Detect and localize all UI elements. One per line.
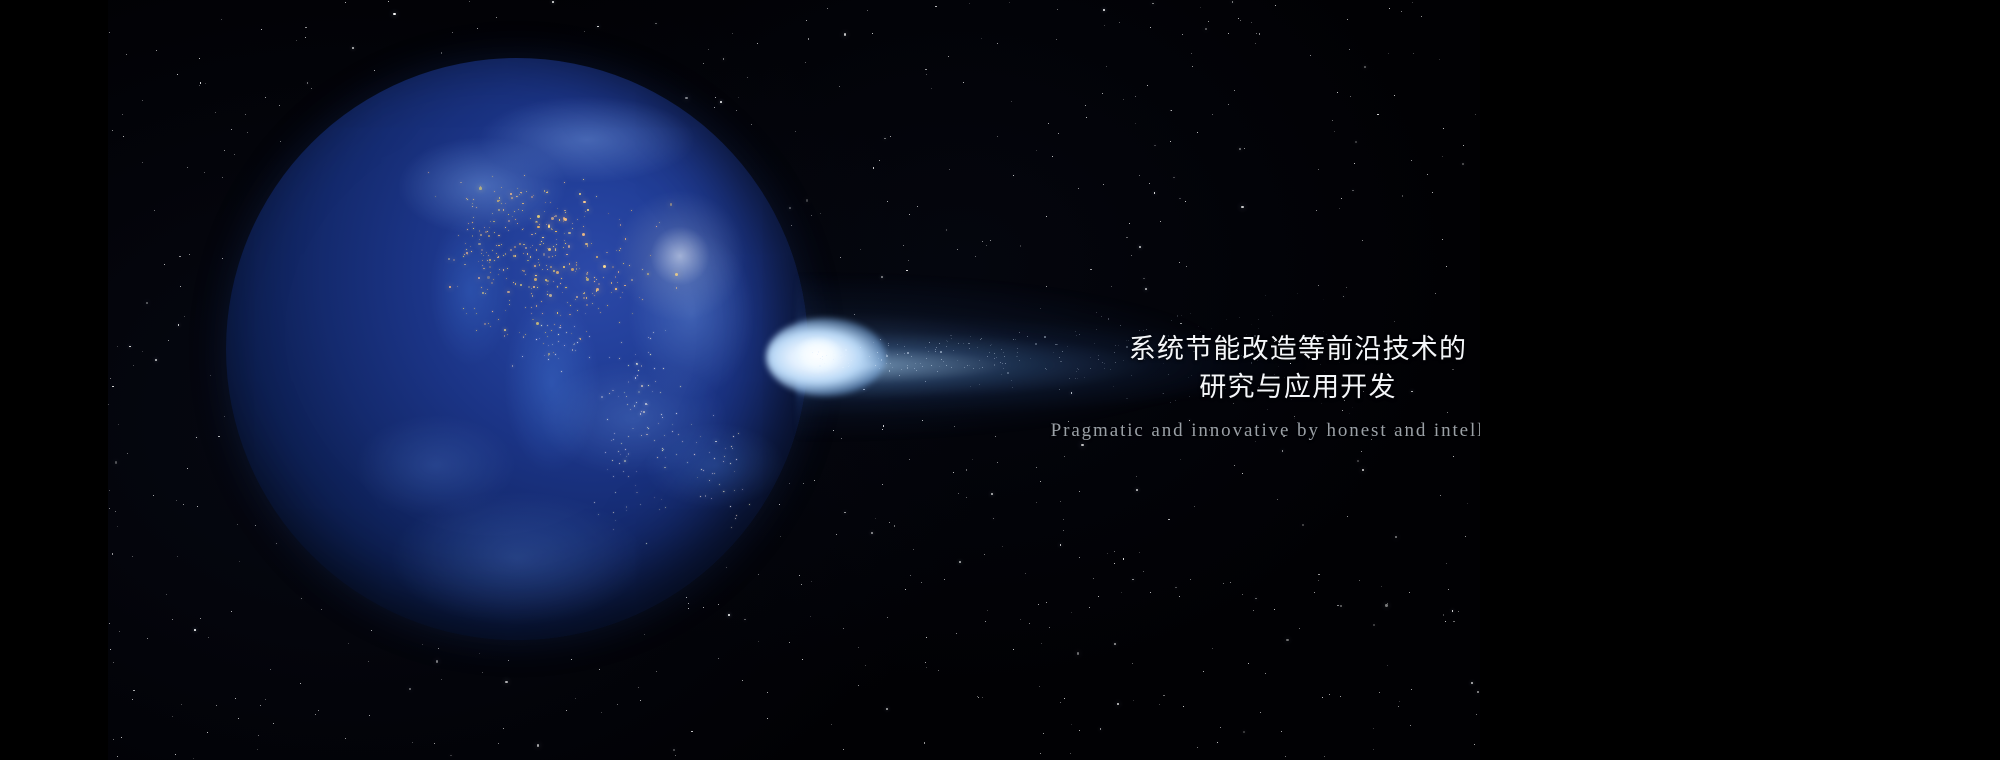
star	[981, 38, 982, 39]
star	[1329, 694, 1330, 695]
star	[584, 31, 585, 32]
star	[1401, 11, 1402, 12]
star	[1385, 604, 1387, 606]
star	[345, 738, 346, 739]
star	[1286, 639, 1288, 641]
star	[1049, 627, 1050, 628]
star	[1114, 643, 1116, 645]
star	[1123, 99, 1124, 100]
star	[984, 554, 985, 555]
star	[1255, 598, 1257, 600]
star	[1046, 286, 1047, 287]
star	[164, 264, 165, 265]
star	[296, 40, 297, 41]
star	[1251, 22, 1252, 23]
star	[808, 38, 809, 39]
star	[1395, 536, 1397, 538]
star	[109, 32, 110, 33]
star	[176, 500, 177, 501]
star	[154, 210, 155, 211]
star	[1160, 221, 1161, 222]
star	[1060, 702, 1061, 703]
star	[732, 33, 733, 34]
star	[854, 314, 855, 315]
star	[146, 302, 148, 304]
star	[1285, 756, 1286, 757]
star	[1070, 753, 1071, 754]
star	[1379, 692, 1380, 693]
star	[1025, 573, 1026, 574]
star	[121, 737, 122, 738]
star	[469, 1, 470, 2]
star	[257, 749, 258, 750]
star	[986, 245, 987, 246]
star	[1197, 132, 1198, 133]
star	[1040, 753, 1041, 754]
star	[175, 754, 176, 755]
star	[1133, 700, 1134, 701]
star	[155, 359, 157, 361]
star	[184, 316, 185, 317]
star	[1277, 499, 1278, 500]
star	[1355, 141, 1357, 143]
star	[109, 490, 110, 491]
star	[113, 739, 114, 740]
star	[1412, 2, 1413, 3]
star	[1435, 293, 1436, 294]
star	[133, 690, 134, 691]
star	[1230, 582, 1231, 583]
star	[1111, 286, 1112, 287]
star	[1063, 530, 1064, 531]
star	[181, 704, 182, 705]
star	[836, 534, 837, 535]
star	[1322, 697, 1323, 698]
star	[1310, 55, 1311, 56]
star	[1340, 605, 1342, 607]
star	[1173, 177, 1175, 179]
star	[183, 504, 184, 505]
star	[993, 518, 995, 520]
star	[109, 508, 110, 509]
star	[112, 553, 113, 554]
star	[1467, 503, 1468, 504]
star	[1058, 133, 1059, 134]
star	[1446, 266, 1447, 267]
star	[215, 112, 216, 113]
star	[1038, 604, 1039, 605]
star	[127, 453, 128, 454]
star	[1389, 8, 1390, 9]
star	[1168, 519, 1169, 520]
star	[393, 13, 395, 15]
star	[1354, 163, 1355, 164]
star	[926, 667, 927, 668]
star	[1136, 489, 1138, 491]
star	[1465, 536, 1466, 537]
star	[172, 716, 173, 717]
star	[1104, 25, 1105, 26]
star	[1445, 621, 1446, 622]
star	[110, 649, 111, 650]
star	[216, 705, 217, 706]
star	[921, 582, 922, 583]
star	[922, 420, 923, 421]
star	[863, 389, 865, 391]
star	[147, 638, 148, 639]
star	[498, 743, 499, 744]
star	[833, 430, 834, 431]
star	[1208, 21, 1209, 22]
star	[905, 589, 906, 590]
star	[840, 257, 841, 258]
star	[222, 177, 223, 178]
star	[1036, 467, 1037, 468]
star	[982, 241, 983, 242]
star	[883, 425, 884, 426]
star	[1152, 3, 1154, 5]
star	[978, 697, 979, 698]
star	[1013, 649, 1014, 650]
star	[1114, 563, 1115, 564]
star	[938, 670, 939, 671]
star	[1149, 183, 1150, 184]
star	[1197, 747, 1198, 748]
star	[1362, 469, 1364, 471]
star	[224, 416, 225, 417]
star	[897, 344, 898, 345]
star	[1036, 150, 1037, 151]
star	[218, 436, 219, 437]
star	[1314, 592, 1315, 593]
star	[222, 258, 223, 259]
star	[1182, 34, 1183, 35]
star	[1194, 506, 1195, 507]
star	[882, 484, 883, 485]
star	[1170, 141, 1171, 142]
star	[1132, 579, 1134, 581]
star	[1098, 596, 1099, 597]
star	[844, 512, 846, 514]
star	[177, 556, 178, 557]
star	[1040, 308, 1041, 309]
star	[953, 472, 954, 473]
star	[132, 699, 133, 700]
star	[1411, 160, 1412, 161]
star	[1260, 712, 1261, 713]
star	[966, 497, 967, 498]
star	[1078, 188, 1079, 189]
star	[1180, 323, 1181, 324]
star	[972, 459, 973, 460]
star	[1052, 156, 1053, 157]
star	[117, 346, 118, 347]
star	[1394, 321, 1395, 322]
star	[691, 731, 692, 732]
star	[1123, 558, 1124, 559]
star	[1239, 148, 1241, 150]
star	[1011, 101, 1012, 102]
star	[496, 17, 497, 18]
star	[153, 495, 154, 496]
star	[1117, 703, 1119, 705]
star	[352, 47, 354, 49]
star	[908, 260, 909, 261]
star	[655, 23, 657, 25]
star	[117, 526, 118, 527]
star	[1421, 16, 1422, 17]
star	[1212, 114, 1213, 115]
star	[1079, 557, 1080, 558]
star	[1143, 571, 1144, 572]
star	[991, 493, 993, 495]
star	[1089, 607, 1090, 608]
star	[1337, 605, 1338, 606]
star	[1349, 49, 1350, 50]
star	[1475, 114, 1476, 115]
star	[196, 437, 198, 439]
star	[1440, 495, 1441, 496]
star	[982, 697, 983, 698]
star	[1114, 551, 1115, 552]
star	[1143, 278, 1145, 280]
star	[881, 276, 883, 278]
star	[1282, 450, 1284, 452]
star	[887, 617, 888, 618]
star	[1347, 19, 1348, 20]
star	[1040, 481, 1041, 482]
star	[1462, 163, 1464, 165]
star	[123, 136, 124, 137]
space-photo-panel: 系统节能改造等前沿技术的 研究与应用开发 Pragmatic and innov…	[108, 0, 1480, 760]
star	[1411, 689, 1412, 690]
star	[1063, 519, 1064, 520]
star	[1060, 544, 1062, 546]
star	[1175, 587, 1177, 589]
star	[675, 755, 676, 756]
star	[909, 214, 910, 215]
star	[1448, 589, 1449, 590]
star	[210, 375, 211, 376]
star	[858, 647, 859, 648]
star	[477, 28, 478, 29]
star	[1190, 579, 1191, 580]
star	[112, 386, 113, 387]
star	[1377, 114, 1378, 115]
star	[205, 83, 206, 84]
star	[1183, 706, 1184, 707]
star	[820, 213, 821, 214]
star	[1071, 612, 1072, 613]
star	[1243, 731, 1245, 733]
star	[1234, 465, 1235, 466]
star	[1399, 701, 1400, 702]
star	[946, 229, 948, 231]
star	[1324, 756, 1325, 757]
star	[1139, 246, 1141, 248]
star	[1318, 285, 1319, 286]
star	[1159, 704, 1160, 705]
star	[1453, 621, 1454, 622]
star	[441, 52, 442, 53]
star	[1228, 104, 1229, 105]
star	[1238, 18, 1239, 19]
star	[1357, 460, 1359, 462]
star	[1041, 643, 1042, 644]
star	[208, 637, 209, 638]
star	[1275, 5, 1276, 6]
star	[1409, 592, 1410, 593]
star	[1212, 648, 1213, 649]
star	[1443, 614, 1444, 615]
star	[179, 256, 180, 257]
star	[1056, 39, 1057, 40]
star	[997, 43, 998, 44]
star	[1154, 192, 1156, 194]
star	[452, 32, 453, 33]
star	[1442, 156, 1443, 157]
star	[261, 29, 262, 30]
star	[1093, 578, 1094, 579]
star	[112, 130, 113, 131]
star	[597, 26, 599, 28]
star	[1337, 92, 1338, 93]
star	[1474, 744, 1475, 745]
star	[1102, 93, 1103, 94]
star	[1388, 53, 1389, 54]
star	[1232, 1, 1234, 3]
star	[1200, 7, 1201, 8]
star	[108, 404, 109, 405]
star	[187, 468, 188, 469]
star	[1361, 451, 1362, 452]
star	[1398, 706, 1399, 707]
star	[178, 324, 180, 326]
star	[1359, 580, 1360, 581]
star	[1364, 66, 1366, 68]
star	[119, 631, 120, 632]
star	[969, 3, 970, 4]
star	[1256, 33, 1257, 34]
star	[115, 511, 116, 512]
star	[1002, 546, 1003, 547]
star	[189, 254, 190, 255]
star	[172, 619, 173, 620]
star	[914, 368, 915, 369]
star	[1471, 682, 1473, 684]
star	[1135, 96, 1136, 97]
star	[200, 82, 201, 83]
star	[1079, 491, 1080, 492]
star	[1119, 22, 1120, 23]
star	[1339, 208, 1340, 209]
star	[1057, 9, 1058, 10]
star	[957, 249, 958, 250]
star	[1135, 123, 1136, 124]
star	[1150, 592, 1151, 593]
star	[1090, 269, 1091, 270]
star	[1126, 237, 1127, 238]
star	[1439, 59, 1440, 60]
star	[1302, 524, 1304, 526]
star	[1179, 262, 1180, 263]
star	[1129, 223, 1130, 224]
star	[827, 8, 828, 9]
star	[879, 160, 880, 161]
star	[110, 378, 111, 379]
star	[1318, 574, 1319, 575]
star	[1253, 610, 1254, 611]
star	[1463, 145, 1464, 146]
star	[1203, 671, 1204, 672]
star	[1316, 210, 1317, 211]
star	[1145, 288, 1147, 290]
star	[959, 561, 961, 563]
star	[503, 728, 504, 729]
tagline: Pragmatic and innovative by honest and i…	[1038, 420, 1480, 442]
star	[412, 742, 413, 743]
star	[1185, 201, 1186, 202]
star	[987, 610, 988, 611]
star	[1362, 240, 1363, 241]
star	[708, 49, 709, 50]
star	[913, 549, 914, 550]
star	[1048, 123, 1049, 124]
star	[985, 621, 986, 622]
star	[831, 724, 832, 725]
star	[1299, 628, 1300, 629]
star	[931, 88, 932, 89]
star	[1163, 695, 1164, 696]
headline-line-1: 系统节能改造等前沿技术的	[1038, 330, 1480, 368]
star	[1086, 117, 1087, 118]
star	[1147, 85, 1148, 86]
star	[909, 459, 910, 460]
star	[109, 623, 110, 624]
star	[948, 56, 949, 57]
star	[1373, 749, 1374, 750]
star	[258, 735, 259, 736]
star	[1255, 43, 1256, 44]
star	[1334, 131, 1335, 132]
star	[926, 74, 927, 75]
star	[1071, 724, 1072, 725]
star	[1103, 184, 1104, 185]
star	[1154, 145, 1156, 147]
star	[873, 167, 874, 168]
star	[133, 365, 134, 366]
star	[954, 426, 955, 427]
star	[841, 438, 842, 439]
star	[1410, 725, 1411, 726]
star	[1240, 20, 1241, 21]
star	[1318, 580, 1319, 581]
star	[1244, 148, 1245, 149]
star	[117, 756, 118, 757]
star	[1234, 90, 1235, 91]
star	[757, 43, 758, 44]
star	[1139, 552, 1140, 553]
star	[187, 167, 188, 168]
star	[1477, 691, 1479, 693]
star	[1343, 296, 1345, 298]
star	[1387, 665, 1388, 666]
star	[1060, 501, 1061, 502]
star	[1179, 596, 1180, 597]
star	[958, 493, 959, 494]
star	[966, 469, 967, 470]
star	[844, 33, 846, 35]
